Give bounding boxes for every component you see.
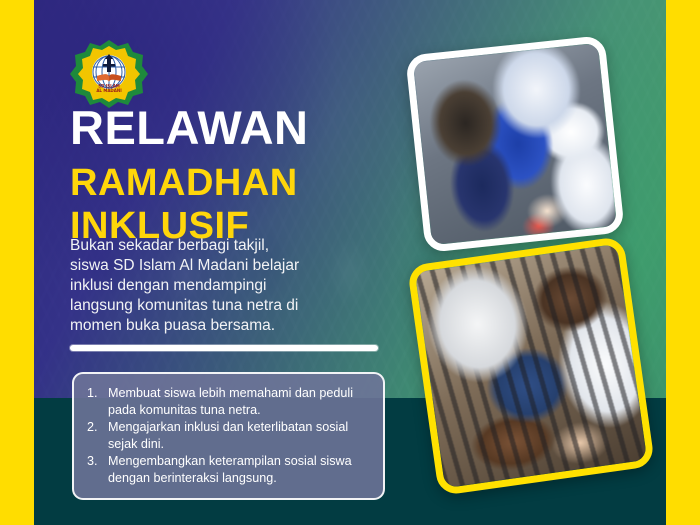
list-item: Mengembangkan keterampilan sosial siswa …	[84, 453, 369, 486]
lede-line: siswa SD Islam Al Madani belajar	[70, 256, 370, 276]
photo-takjil-handover	[405, 35, 625, 253]
list-item: Mengajarkan inklusi dan keterlibatan sos…	[84, 419, 369, 452]
lede-line: inklusi dengan mendampingi	[70, 276, 370, 296]
list-item: Membuat siswa lebih memahami dan peduli …	[84, 385, 369, 418]
headline-line-2: RAMADHAN	[70, 161, 400, 205]
lede-line: momen buka puasa bersama.	[70, 316, 370, 336]
svg-text:AL MADANI: AL MADANI	[96, 88, 122, 93]
headline-block: RELAWAN RAMADHAN INKLUSIF	[70, 104, 400, 247]
photo-greeting-hands-image	[415, 244, 647, 488]
lede-line: langsung komunitas tuna netra di	[70, 296, 370, 316]
frame-border-left	[0, 0, 34, 525]
section-divider	[70, 345, 378, 351]
lede-line: Bukan sekadar berbagi takjil,	[70, 236, 370, 256]
photo-greeting-hands	[407, 236, 655, 496]
benefits-list: Membuat siswa lebih memahami dan peduli …	[84, 385, 369, 486]
benefits-card: Membuat siswa lebih memahami dan peduli …	[72, 372, 385, 500]
headline-line-1: RELAWAN	[70, 104, 400, 151]
poster-root: SD ISLAM AL MADANI RELAWAN RAMADHAN INKL…	[0, 0, 700, 525]
photo-takjil-handover-image	[413, 43, 617, 245]
frame-border-right	[666, 0, 700, 525]
lede-paragraph: Bukan sekadar berbagi takjil, siswa SD I…	[70, 236, 370, 336]
